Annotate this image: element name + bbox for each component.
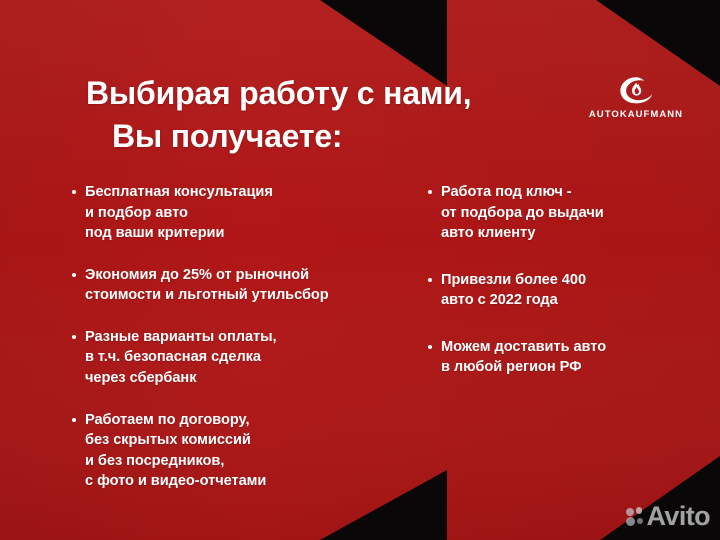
flame-swoosh-icon bbox=[619, 76, 653, 106]
avito-wordmark: Avito bbox=[647, 503, 711, 530]
page-title: Выбирая работу с нами, Вы получаете: bbox=[86, 72, 576, 158]
benefits-column-left: Бесплатная консультация и подбор авто по… bbox=[72, 182, 402, 492]
bullet-dot-icon bbox=[72, 190, 76, 194]
promo-poster: Выбирая работу с нами, Вы получаете: AUT… bbox=[0, 0, 720, 540]
list-item: Разные варианты оплаты, в т.ч. безопасна… bbox=[72, 327, 402, 389]
bullet-dot-icon bbox=[72, 418, 76, 422]
brand-logo: AUTOKAUFMANN bbox=[578, 76, 694, 120]
benefit-text: Экономия до 25% от рыночной стоимости и … bbox=[85, 265, 329, 306]
benefit-text: Работа под ключ - от подбора до выдачи а… bbox=[441, 182, 604, 244]
benefit-text: Разные варианты оплаты, в т.ч. безопасна… bbox=[85, 327, 277, 389]
headline-line-1: Выбирая работу с нами, bbox=[86, 75, 471, 111]
benefits-list: Бесплатная консультация и подбор авто по… bbox=[72, 182, 692, 492]
benefit-text: Работаем по договору, без скрытых комисс… bbox=[85, 410, 266, 492]
list-item: Работа под ключ - от подбора до выдачи а… bbox=[428, 182, 692, 244]
brand-wordmark: AUTOKAUFMANN bbox=[578, 109, 694, 120]
bullet-dot-icon bbox=[428, 278, 432, 282]
benefit-text: Бесплатная консультация и подбор авто по… bbox=[85, 182, 273, 244]
benefit-text: Привезли более 400 авто с 2022 года bbox=[441, 270, 586, 311]
bullet-dot-icon bbox=[428, 190, 432, 194]
avito-dots-icon bbox=[626, 507, 645, 526]
bullet-dot-icon bbox=[72, 335, 76, 339]
bullet-dot-icon bbox=[72, 273, 76, 277]
headline-line-2: Вы получаете: bbox=[86, 115, 576, 158]
bullet-dot-icon bbox=[428, 345, 432, 349]
list-item: Работаем по договору, без скрытых комисс… bbox=[72, 410, 402, 492]
list-item: Экономия до 25% от рыночной стоимости и … bbox=[72, 265, 402, 306]
avito-watermark: Avito bbox=[626, 503, 711, 530]
list-item: Можем доставить авто в любой регион РФ bbox=[428, 337, 692, 378]
benefits-column-right: Работа под ключ - от подбора до выдачи а… bbox=[428, 182, 692, 492]
benefit-text: Можем доставить авто в любой регион РФ bbox=[441, 337, 606, 378]
list-item: Бесплатная консультация и подбор авто по… bbox=[72, 182, 402, 244]
list-item: Привезли более 400 авто с 2022 года bbox=[428, 270, 692, 311]
